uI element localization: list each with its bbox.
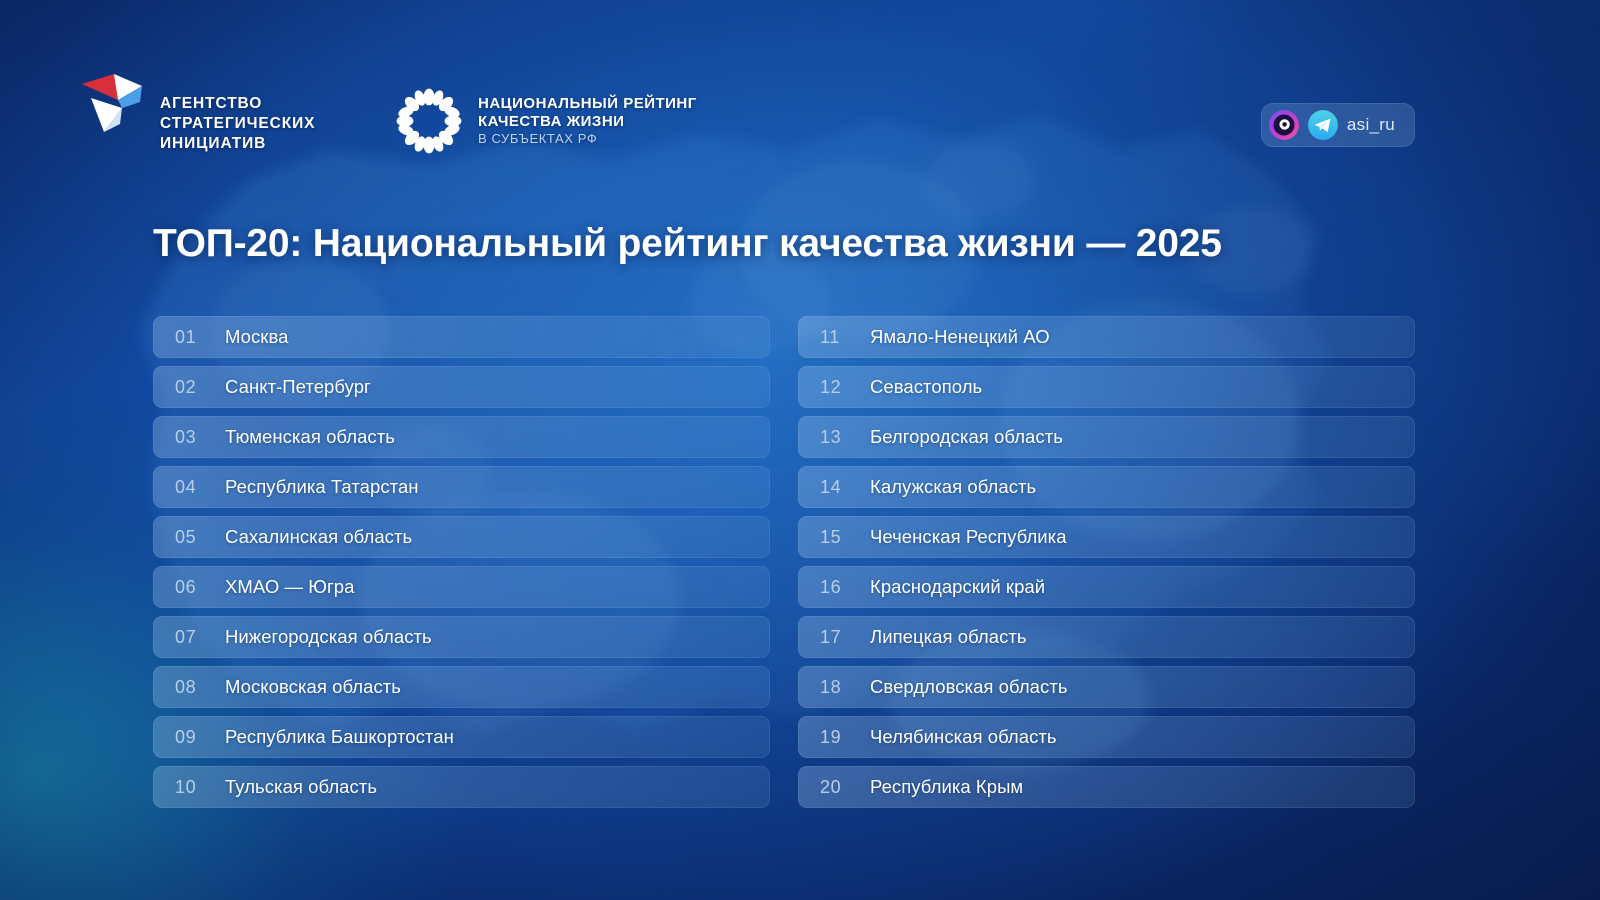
max-messenger-icon[interactable] [1269,110,1299,140]
ranking-position: 10 [153,777,225,798]
ranking-region-name: Республика Крым [870,776,1023,798]
ranking-row[interactable]: 12Севастополь [798,366,1415,408]
ranking-row[interactable]: 20Республика Крым [798,766,1415,808]
ranking-position: 01 [153,327,225,348]
ranking-position: 15 [798,527,870,548]
rating-logo-line2: КАЧЕСТВА ЖИЗНИ [478,113,697,131]
ranking-container: 01Москва02Санкт-Петербург03Тюменская обл… [153,316,1415,808]
ranking-region-name: Чеченская Республика [870,526,1067,548]
ranking-row[interactable]: 17Липецкая область [798,616,1415,658]
ranking-row[interactable]: 08Московская область [153,666,770,708]
ranking-region-name: Челябинская область [870,726,1057,748]
asi-logo-line1: АГЕНТСТВО [160,94,315,114]
ranking-row[interactable]: 06ХМАО — Югра [153,566,770,608]
ranking-region-name: Москва [225,326,288,348]
ranking-region-name: Нижегородская область [225,626,432,648]
ranking-position: 19 [798,727,870,748]
ranking-row[interactable]: 14Калужская область [798,466,1415,508]
ranking-position: 14 [798,477,870,498]
asi-logo-line3: ИНИЦИАТИВ [160,134,315,154]
ranking-position: 18 [798,677,870,698]
rating-logo-line1: НАЦИОНАЛЬНЫЙ РЕЙТИНГ [478,95,697,113]
header: АГЕНТСТВО СТРАТЕГИЧЕСКИХ ИНИЦИАТИВ [0,0,1600,190]
asi-logo: АГЕНТСТВО СТРАТЕГИЧЕСКИХ ИНИЦИАТИВ [78,66,315,154]
ranking-position: 03 [153,427,225,448]
asi-logo-line2: СТРАТЕГИЧЕСКИХ [160,114,315,134]
ranking-position: 11 [798,327,870,348]
ranking-position: 05 [153,527,225,548]
flower-burst-logo-icon [396,88,462,154]
ranking-row[interactable]: 01Москва [153,316,770,358]
social-handle-badge[interactable]: asi_ru [1261,103,1415,147]
rating-logo-wordmark: НАЦИОНАЛЬНЫЙ РЕЙТИНГ КАЧЕСТВА ЖИЗНИ В СУ… [478,95,697,147]
telegram-icon[interactable] [1308,110,1338,140]
ranking-row[interactable]: 11Ямало-Ненецкий АО [798,316,1415,358]
ranking-position: 17 [798,627,870,648]
asi-logo-wordmark: АГЕНТСТВО СТРАТЕГИЧЕСКИХ ИНИЦИАТИВ [160,94,315,154]
asi-arrow-logo-icon [78,68,150,138]
ranking-column-left: 01Москва02Санкт-Петербург03Тюменская обл… [153,316,770,808]
ranking-position: 08 [153,677,225,698]
ranking-region-name: Свердловская область [870,676,1068,698]
ranking-row[interactable]: 15Чеченская Республика [798,516,1415,558]
ranking-row[interactable]: 05Сахалинская область [153,516,770,558]
rating-logo-line3: В СУБЪЕКТАХ РФ [478,131,697,147]
ranking-row[interactable]: 04Республика Татарстан [153,466,770,508]
ranking-position: 13 [798,427,870,448]
rating-logo: НАЦИОНАЛЬНЫЙ РЕЙТИНГ КАЧЕСТВА ЖИЗНИ В СУ… [396,88,697,154]
page-title: ТОП-20: Национальный рейтинг качества жи… [153,222,1222,266]
ranking-row[interactable]: 07Нижегородская область [153,616,770,658]
ranking-row[interactable]: 09Республика Башкортостан [153,716,770,758]
ranking-row[interactable]: 16Краснодарский край [798,566,1415,608]
ranking-region-name: Тульская область [225,776,377,798]
ranking-position: 12 [798,377,870,398]
ranking-column-right: 11Ямало-Ненецкий АО12Севастополь13Белгор… [798,316,1415,808]
ranking-region-name: Липецкая область [870,626,1027,648]
ranking-region-name: ХМАО — Югра [225,576,354,598]
ranking-position: 07 [153,627,225,648]
ranking-position: 20 [798,777,870,798]
ranking-region-name: Ямало-Ненецкий АО [870,326,1050,348]
ranking-position: 09 [153,727,225,748]
ranking-position: 06 [153,577,225,598]
ranking-region-name: Сахалинская область [225,526,412,548]
ranking-row[interactable]: 18Свердловская область [798,666,1415,708]
ranking-region-name: Московская область [225,676,401,698]
ranking-region-name: Калужская область [870,476,1036,498]
ranking-region-name: Белгородская область [870,426,1063,448]
ranking-row[interactable]: 19Челябинская область [798,716,1415,758]
ranking-region-name: Республика Башкортостан [225,726,454,748]
ranking-row[interactable]: 03Тюменская область [153,416,770,458]
ranking-region-name: Краснодарский край [870,576,1045,598]
ranking-position: 16 [798,577,870,598]
ranking-region-name: Республика Татарстан [225,476,419,498]
social-handle-text: asi_ru [1347,115,1395,135]
ranking-region-name: Севастополь [870,376,982,398]
ranking-position: 04 [153,477,225,498]
ranking-row[interactable]: 02Санкт-Петербург [153,366,770,408]
infographic-canvas: АГЕНТСТВО СТРАТЕГИЧЕСКИХ ИНИЦИАТИВ [0,0,1600,900]
ranking-position: 02 [153,377,225,398]
ranking-region-name: Санкт-Петербург [225,376,371,398]
ranking-row[interactable]: 10Тульская область [153,766,770,808]
ranking-region-name: Тюменская область [225,426,395,448]
ranking-row[interactable]: 13Белгородская область [798,416,1415,458]
